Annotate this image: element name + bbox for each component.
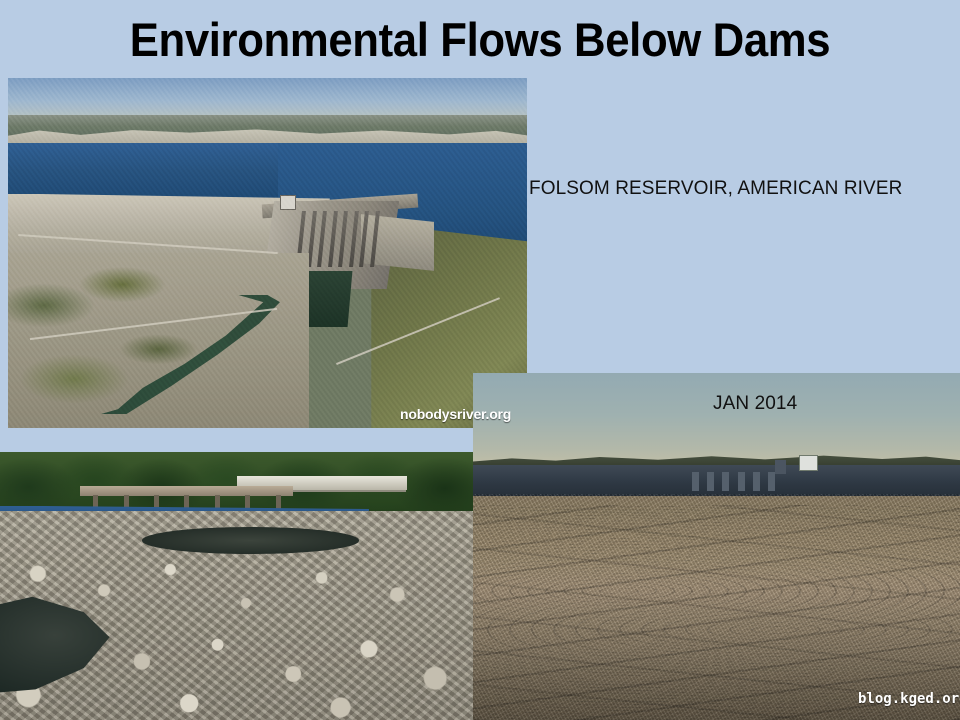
slide-title: Environmental Flows Below Dams (34, 14, 927, 66)
lakebed-vignette (473, 373, 960, 720)
presentation-slide: Environmental Flows Below Dams FOLSOM RE… (0, 0, 960, 720)
watermark-nobodysriver: nobodysriver.org (400, 406, 511, 422)
photo-folsom-dam-aerial (8, 78, 527, 428)
photo-dry-lakebed (473, 373, 960, 720)
photo-dry-riverbed (0, 452, 473, 720)
watermark-kged: blog.kged.org (858, 691, 960, 707)
caption-folsom-reservoir: FOLSOM RESERVOIR, AMERICAN RIVER (529, 177, 902, 201)
aerial-texture-overlay (8, 78, 527, 428)
riverbed-mid-pool (142, 527, 360, 554)
caption-jan-2014: JAN 2014 (713, 392, 797, 416)
